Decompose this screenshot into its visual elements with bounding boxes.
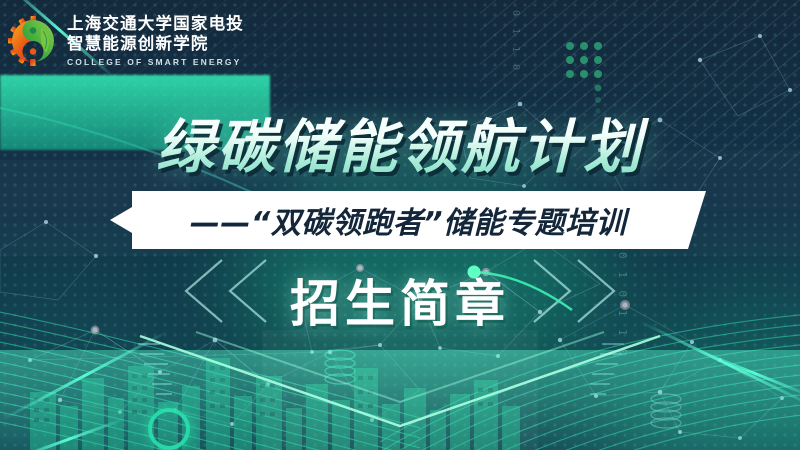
logo-line-1: 上海交通大学国家电投	[67, 14, 244, 33]
radial-fan-left	[138, 340, 182, 410]
barcode-decor-top: 0 1 1 0	[510, 10, 521, 73]
subtitle-text: ——“双碳领跑者”储能专题培训	[96, 191, 706, 249]
city-skyline-silhouette	[20, 340, 540, 450]
college-logo[interactable]: 上海交通大学国家电投 智慧能源创新学院 COLLEGE OF SMART ENE…	[8, 14, 244, 68]
accent-streak-bottomleft	[0, 330, 169, 422]
accent-streak-leftlower	[11, 418, 125, 450]
logo-line-2: 智慧能源创新学院	[67, 34, 244, 53]
logo-text-block: 上海交通大学国家电投 智慧能源创新学院 COLLEGE OF SMART ENE…	[67, 14, 244, 68]
radial-fan-right	[580, 340, 624, 410]
headline-admission-guide: 招生简章	[0, 264, 800, 336]
ring-decor	[148, 408, 190, 450]
chevron-vee-inner	[0, 350, 800, 450]
coin-stack-icon	[322, 348, 358, 388]
logo-line-english: COLLEGE OF SMART ENERGY	[67, 54, 244, 68]
chevron-vee-outline	[0, 330, 800, 450]
poster-canvas: 0 1 0 1 1 0 0 1 1 0	[0, 0, 800, 450]
logo-emblem-icon	[8, 16, 58, 66]
coin-stack-icon-right	[648, 392, 684, 432]
page-title: 绿碳储能领航计划	[0, 100, 800, 184]
accent-streak-topright	[694, 348, 800, 399]
panel-overlay-center-bottom	[262, 330, 538, 450]
